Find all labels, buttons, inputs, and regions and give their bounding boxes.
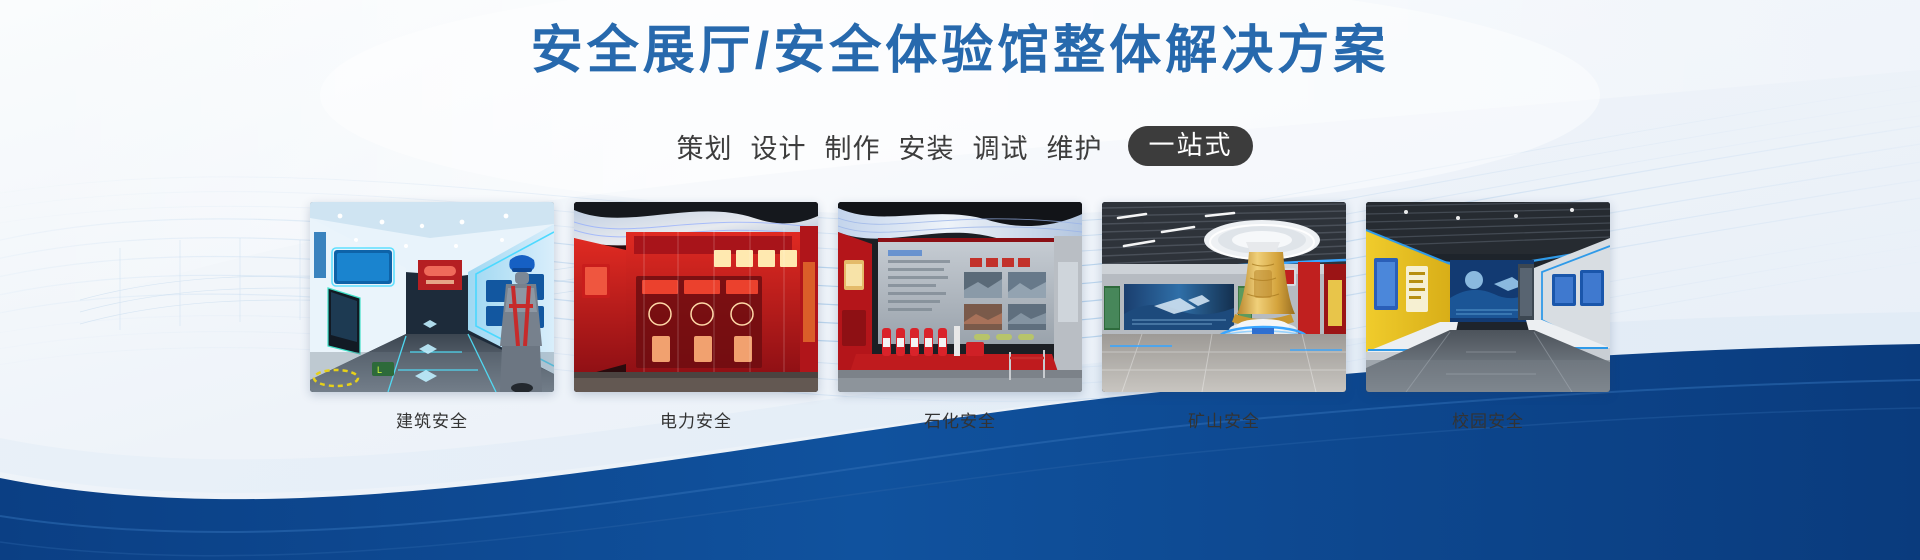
card-thumbnail-petrochemical[interactable] <box>838 202 1082 392</box>
subtitle-item-production: 制作 <box>824 127 880 166</box>
card-thumbnail-campus[interactable] <box>1366 202 1610 392</box>
card-thumbnail-construction[interactable]: L <box>310 202 554 392</box>
svg-text:L: L <box>377 365 382 375</box>
banner-root: 安全展厅/安全体验馆整体解决方案 策划 设计 制作 安装 调试 维护 一站式 <box>0 0 1920 560</box>
card-gallery: L <box>0 202 1920 432</box>
gallery-card[interactable]: 电力安全 <box>574 202 818 432</box>
gallery-card[interactable]: 石化安全 <box>838 202 1082 432</box>
one-stop-badge: 一站式 <box>1128 126 1252 166</box>
subtitle-item-planning: 策划 <box>676 127 732 166</box>
gallery-card[interactable]: L <box>310 202 554 432</box>
subtitle-item-design: 设计 <box>750 127 806 166</box>
card-thumbnail-mining[interactable] <box>1102 202 1346 392</box>
card-caption: 建筑安全 <box>396 407 468 432</box>
gallery-card[interactable]: 矿山安全 <box>1102 202 1346 432</box>
card-caption: 电力安全 <box>660 407 732 432</box>
card-caption: 校园安全 <box>1452 407 1524 432</box>
page-title: 安全展厅/安全体验馆整体解决方案 <box>0 22 1920 82</box>
card-thumbnail-electric[interactable] <box>574 202 818 392</box>
subtitle-item-debugging: 调试 <box>972 127 1028 166</box>
page-title-text: 安全展厅/安全体验馆整体解决方案 <box>531 22 1389 80</box>
subtitle-item-installation: 安装 <box>898 127 954 166</box>
subtitle-row: 策划 设计 制作 安装 调试 维护 一站式 <box>0 126 1920 166</box>
card-caption: 石化安全 <box>924 407 996 432</box>
card-caption: 矿山安全 <box>1188 407 1260 432</box>
subtitle-item-maintenance: 维护 <box>1046 127 1102 166</box>
gallery-card[interactable]: 校园安全 <box>1366 202 1610 432</box>
